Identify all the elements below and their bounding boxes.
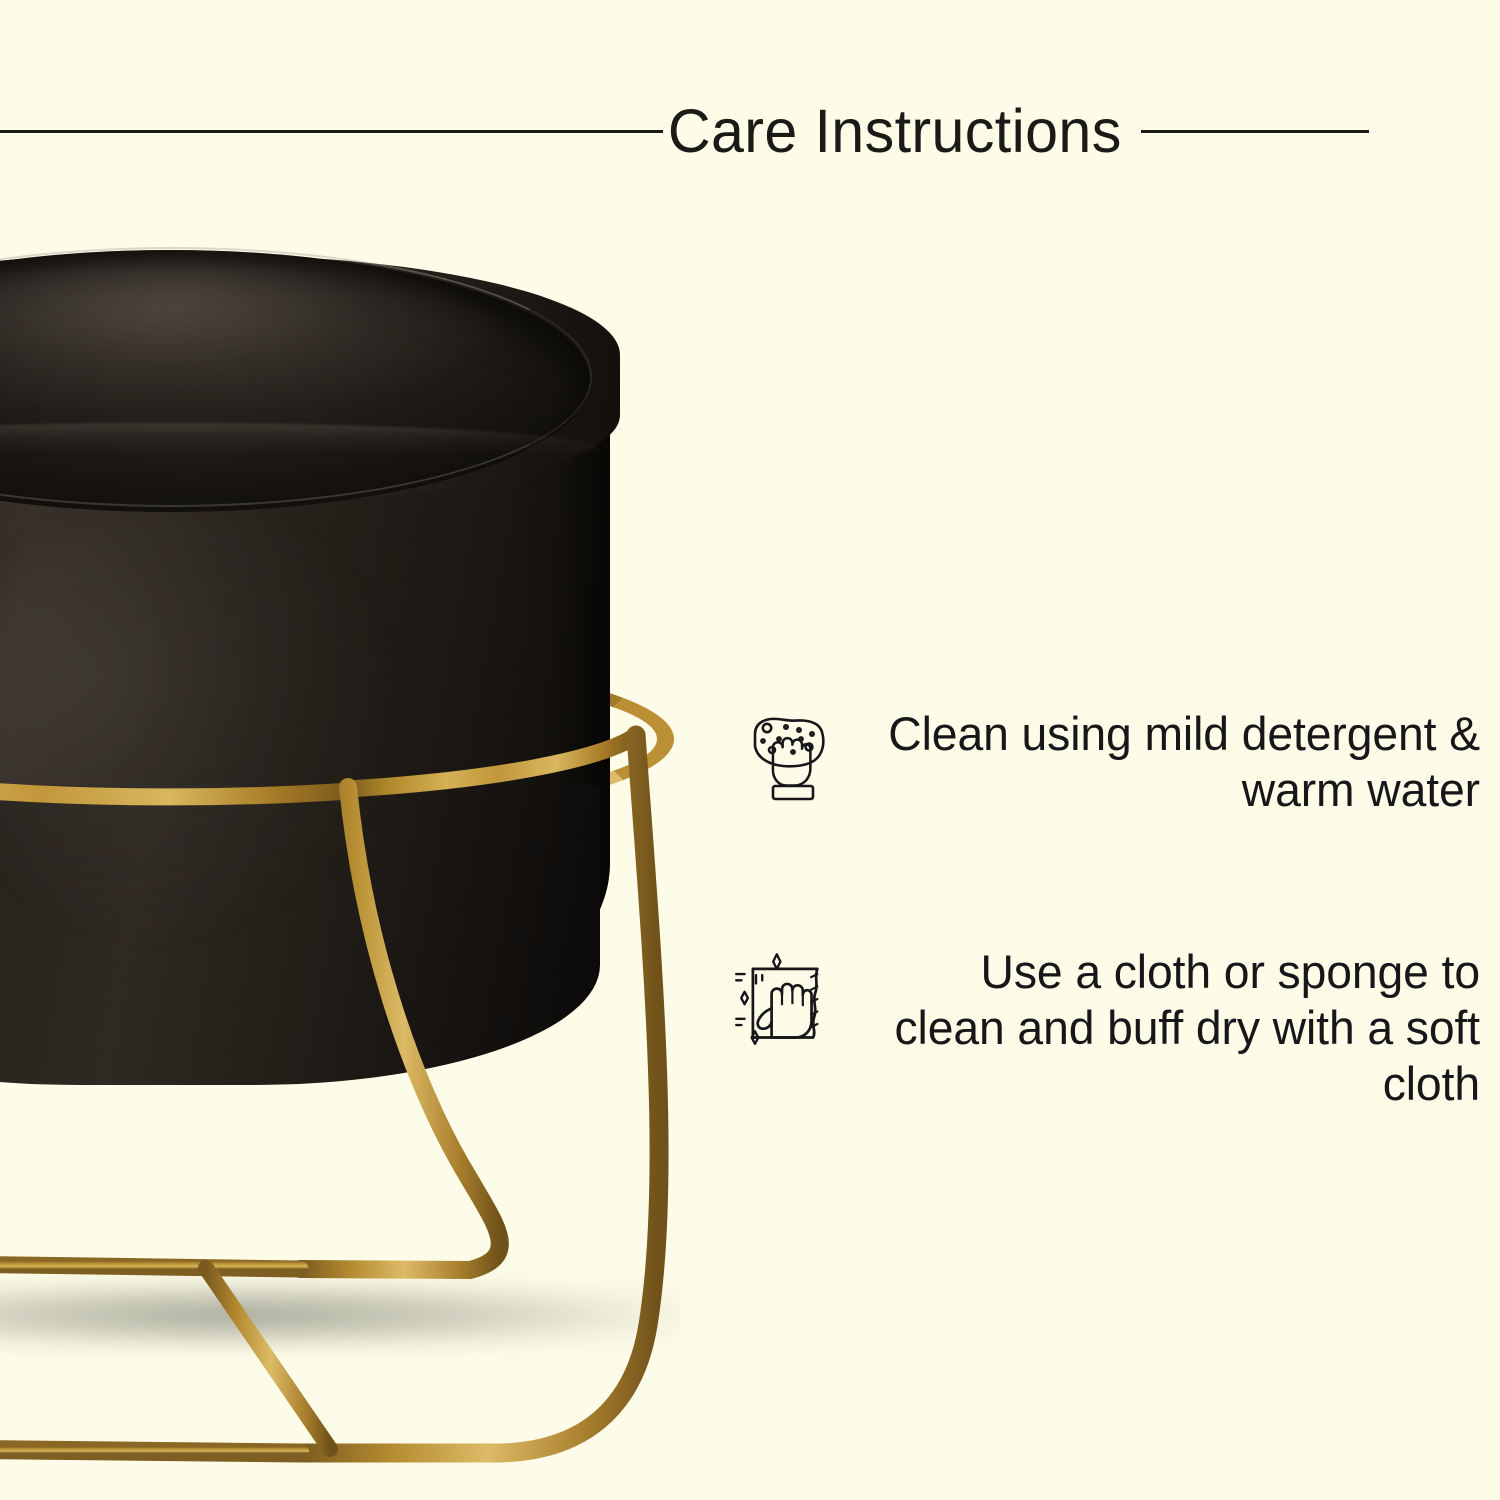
stand-front-leg: [300, 787, 500, 1270]
instruction-item: Use a cloth or sponge to clean and buff …: [735, 942, 1480, 1112]
instruction-text: Clean using mild detergent & warm water: [876, 700, 1480, 818]
care-instructions-list: Clean using mild detergent & warm water: [735, 700, 1480, 1112]
stand-wireframe: [0, 195, 760, 1375]
instruction-text: Use a cloth or sponge to clean and buff …: [870, 942, 1480, 1112]
stand-ring-right-arc: [348, 735, 637, 789]
care-instructions-page: Care Instructions: [0, 0, 1500, 1500]
page-header: Care Instructions: [0, 88, 1500, 174]
instruction-item: Clean using mild detergent & warm water: [735, 700, 1480, 818]
stand-rail-lower: [0, 1447, 300, 1453]
hand-sponge-icon: [735, 700, 847, 812]
stand-rail-upper: [0, 1261, 300, 1269]
product-photo: [0, 195, 760, 1375]
hand-cloth-sparkle-icon: [723, 942, 841, 1054]
header-rule-right: [1141, 130, 1369, 133]
stand-rail-connector: [206, 1268, 330, 1449]
page-title: Care Instructions: [663, 88, 1127, 174]
stand-ring-front-arc: [0, 722, 350, 797]
header-rule-left: [0, 130, 663, 133]
